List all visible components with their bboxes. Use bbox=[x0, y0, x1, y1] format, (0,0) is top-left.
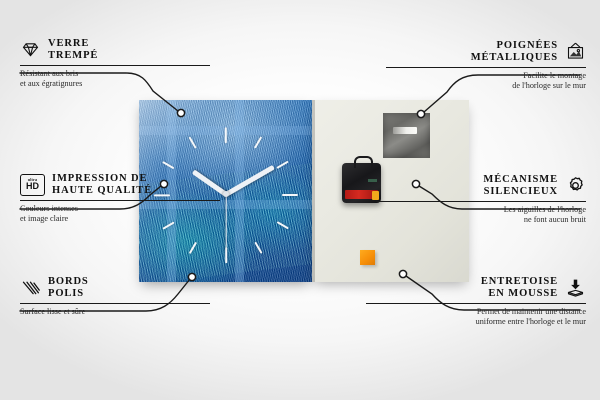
callout-bords-polis: BORDS POLIS Surface lisse et sûre bbox=[20, 276, 210, 317]
foam-spacer bbox=[360, 250, 375, 265]
clock-second-hand bbox=[225, 194, 226, 250]
callout-header: VERRE TREMPÉ bbox=[20, 38, 210, 61]
clock-tick bbox=[224, 128, 226, 144]
callout-header: MÉCANISME SILENCIEUX bbox=[376, 174, 586, 197]
diamond-icon bbox=[20, 39, 41, 60]
callout-header: BORDS POLIS bbox=[20, 276, 210, 299]
callout-divider bbox=[366, 303, 586, 304]
callout-title: POIGNÉES MÉTALLIQUES bbox=[471, 40, 558, 63]
callout-divider bbox=[386, 67, 586, 68]
callout-title: ENTRETOISE EN MOUSSE bbox=[481, 276, 558, 299]
callout-description: Couleurs intenses et image claire bbox=[20, 204, 220, 223]
gear-icon bbox=[565, 175, 586, 196]
callout-title: MÉCANISME SILENCIEUX bbox=[483, 174, 558, 197]
wall-hanger-icon bbox=[565, 41, 586, 62]
callout-divider bbox=[20, 65, 210, 66]
callout-description: Permet de maintenir une distance uniform… bbox=[366, 307, 586, 326]
callout-divider bbox=[20, 303, 210, 304]
hanger-slot bbox=[393, 127, 417, 134]
foam-spacer-icon bbox=[565, 277, 586, 298]
metal-hanger-plate bbox=[383, 113, 430, 158]
callout-header: ultra HD IMPRESSION DE HAUTE QUALITÉ bbox=[20, 173, 220, 196]
callout-description: Les aiguilles de l'horloge ne font aucun… bbox=[376, 205, 586, 224]
callout-impression-haute-qualite: ultra HD IMPRESSION DE HAUTE QUALITÉ Cou… bbox=[20, 173, 220, 223]
callout-description: Surface lisse et sûre bbox=[20, 307, 210, 317]
callout-description: Résistant aux bris et aux égratignures bbox=[20, 69, 210, 88]
clock-center-hub bbox=[223, 191, 229, 197]
panel-edge bbox=[312, 100, 315, 282]
callout-mecanisme-silencieux: MÉCANISME SILENCIEUX Les aiguilles de l'… bbox=[376, 174, 586, 224]
callout-divider bbox=[376, 201, 586, 202]
mechanism-hanging-loop bbox=[354, 156, 373, 168]
callout-title: IMPRESSION DE HAUTE QUALITÉ bbox=[52, 173, 152, 196]
callout-poignees-metalliques: POIGNÉES MÉTALLIQUES Facilite le montage… bbox=[386, 40, 586, 90]
callout-verre-trempe: VERRE TREMPÉ Résistant aux bris et aux é… bbox=[20, 38, 210, 88]
infographic-canvas: VERRE TREMPÉ Résistant aux bris et aux é… bbox=[0, 0, 600, 400]
ultra-hd-icon-large-text: HD bbox=[26, 182, 39, 191]
polished-edges-icon bbox=[20, 277, 41, 298]
callout-entretoise-en-mousse: ENTRETOISE EN MOUSSE Permet de maintenir… bbox=[366, 276, 586, 326]
callout-header: POIGNÉES MÉTALLIQUES bbox=[386, 40, 586, 63]
callout-header: ENTRETOISE EN MOUSSE bbox=[366, 276, 586, 299]
callout-description: Facilite le montage de l'horloge sur le … bbox=[386, 71, 586, 90]
callout-title: VERRE TREMPÉ bbox=[48, 38, 98, 61]
ultra-hd-icon: ultra HD bbox=[20, 174, 45, 196]
callout-title: BORDS POLIS bbox=[48, 276, 89, 299]
callout-divider bbox=[20, 200, 220, 201]
